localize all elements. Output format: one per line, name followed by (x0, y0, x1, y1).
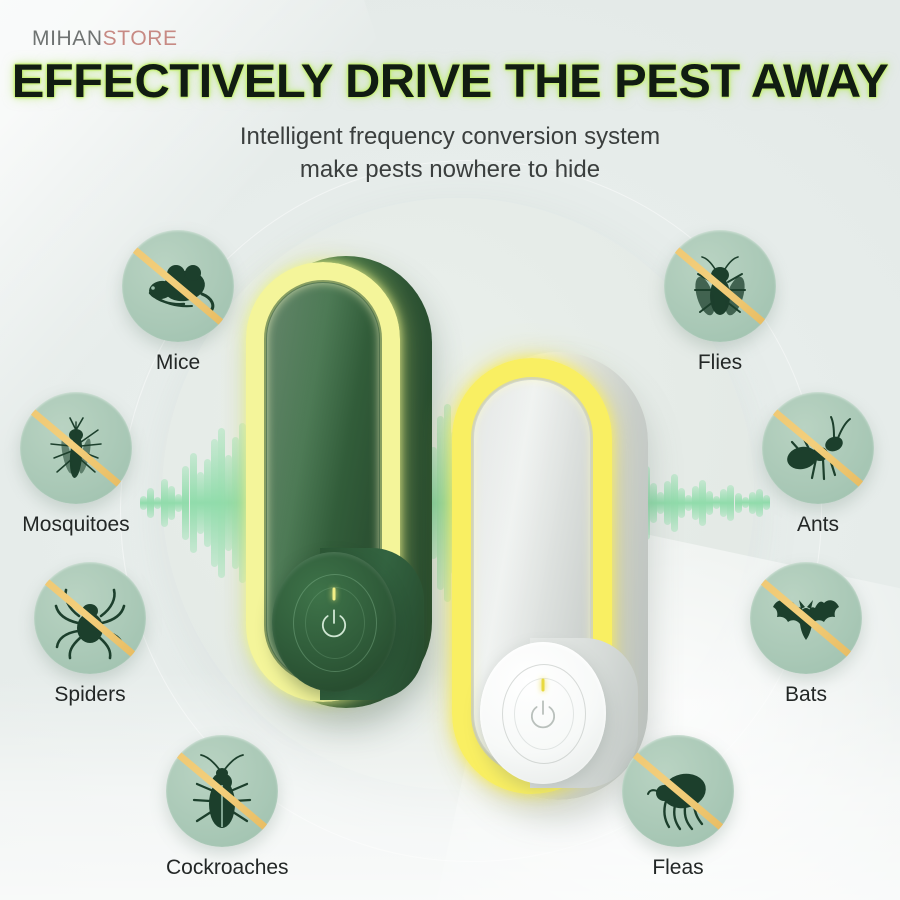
green-repeller-device (246, 256, 432, 708)
page-subtitle: Intelligent frequency conversion system … (0, 120, 900, 186)
badge-label: Spiders (34, 683, 146, 707)
badge-label: Ants (762, 513, 874, 537)
badge-circle (166, 735, 278, 847)
badge-ants[interactable]: Ants (762, 392, 874, 537)
badge-flies[interactable]: Flies (664, 230, 776, 375)
badge-circle (762, 392, 874, 504)
power-icon (526, 698, 560, 732)
led-indicator (542, 679, 545, 692)
brand-logo: MIHANSTORE (32, 27, 178, 51)
power-button[interactable] (272, 552, 396, 692)
badge-circle (664, 230, 776, 342)
white-repeller-device (452, 352, 648, 800)
brand-logo-part1: MIHAN (32, 27, 103, 50)
led-indicator (333, 588, 336, 601)
badge-spiders[interactable]: Spiders (34, 562, 146, 707)
badge-label: Mice (122, 351, 234, 375)
badge-label: Fleas (622, 856, 734, 880)
badge-cockroaches[interactable]: Cockroaches (166, 735, 278, 880)
brand-logo-part2: STORE (103, 27, 178, 50)
badge-circle (622, 735, 734, 847)
power-icon (317, 607, 351, 641)
badge-label: Cockroaches (166, 856, 278, 880)
badge-circle (34, 562, 146, 674)
subtitle-line-1: Intelligent frequency conversion system (0, 120, 900, 153)
badge-label: Flies (664, 351, 776, 375)
badge-mice[interactable]: Mice (122, 230, 234, 375)
badge-fleas[interactable]: Fleas (622, 735, 734, 880)
product-feature-poster: MIHANSTORE EFFECTIVELY DRIVE THE PEST AW… (0, 0, 900, 900)
badge-bats[interactable]: Bats (750, 562, 862, 707)
page-title: EFFECTIVELY DRIVE THE PEST AWAY (0, 55, 900, 107)
badge-circle (20, 392, 132, 504)
badge-mosquitoes[interactable]: Mosquitoes (20, 392, 132, 537)
badge-circle (750, 562, 862, 674)
badge-label: Mosquitoes (20, 513, 132, 537)
subtitle-line-2: make pests nowhere to hide (0, 153, 900, 186)
power-button[interactable] (480, 642, 606, 784)
badge-circle (122, 230, 234, 342)
badge-label: Bats (750, 683, 862, 707)
